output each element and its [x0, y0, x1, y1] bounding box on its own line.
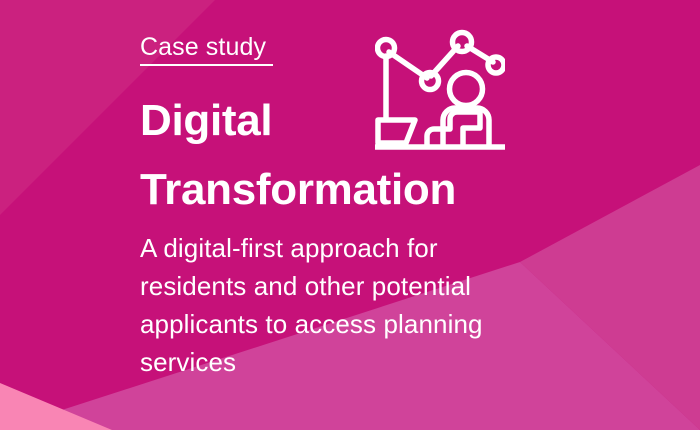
eyebrow-label: Case study [140, 32, 273, 66]
card-content: Case study Digital Transformation A digi… [0, 0, 700, 430]
data-analysis-person-laptop-icon [375, 26, 505, 158]
description-text: A digital-first approach for residents a… [140, 229, 540, 381]
case-study-card: Case study Digital Transformation A digi… [0, 0, 700, 430]
